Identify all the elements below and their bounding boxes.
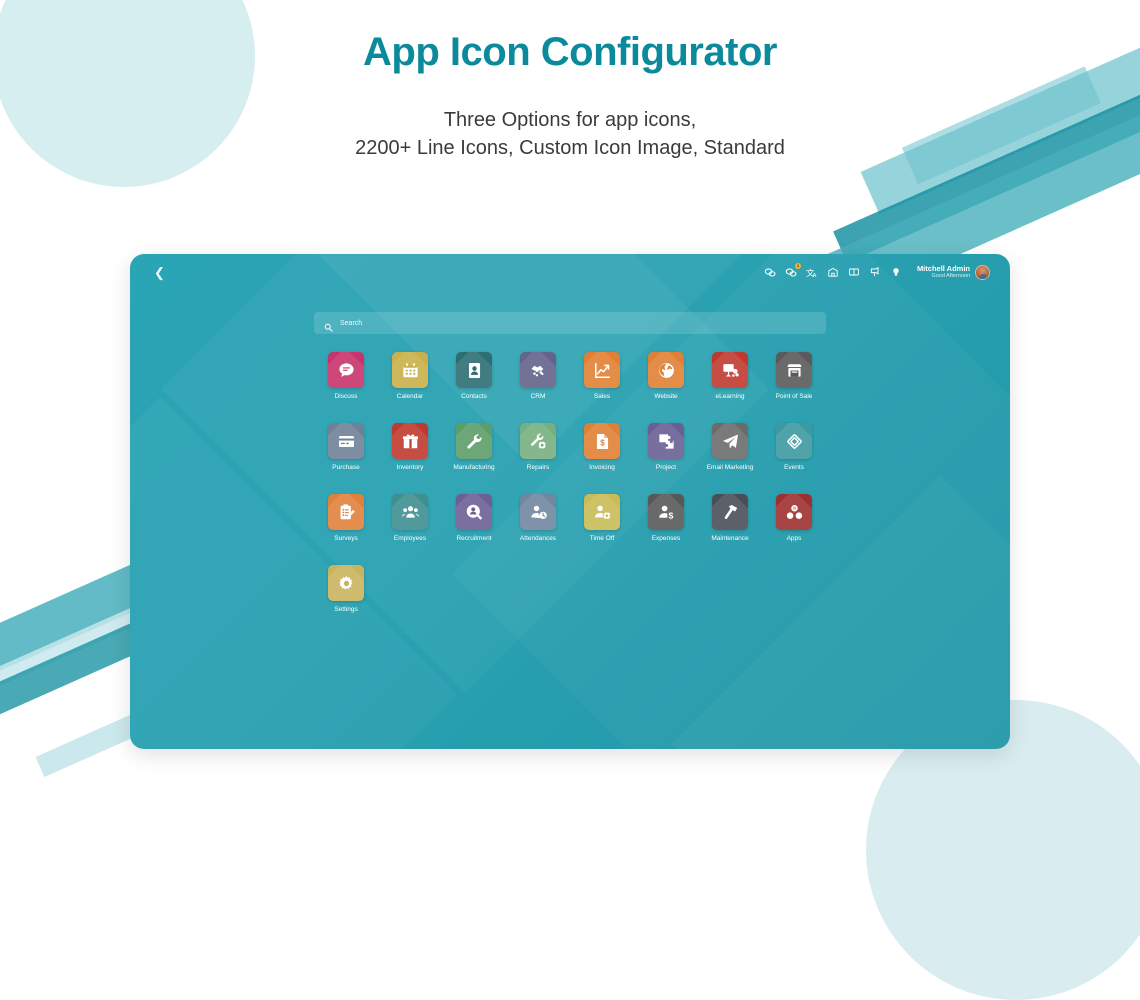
app-label: Surveys bbox=[334, 535, 357, 543]
chevron-left-icon[interactable]: ❮ bbox=[154, 266, 165, 279]
app-item-project[interactable]: Project bbox=[634, 423, 698, 472]
credit-card-icon[interactable] bbox=[328, 423, 364, 459]
app-item-contacts[interactable]: Contacts bbox=[442, 352, 506, 401]
app-label: Contacts bbox=[461, 393, 487, 401]
messages-icon[interactable] bbox=[764, 266, 777, 279]
app-label: Settings bbox=[334, 606, 358, 614]
app-window: ❮ 1文AMitchell AdminGood Afternoon Search… bbox=[130, 254, 1010, 749]
app-label: Attendances bbox=[520, 535, 556, 543]
page-subtitle: Three Options for app icons, 2200+ Line … bbox=[0, 106, 1140, 162]
gear-icon[interactable] bbox=[328, 565, 364, 601]
megaphone-icon[interactable] bbox=[869, 266, 882, 279]
app-item-crm[interactable]: CRM bbox=[506, 352, 570, 401]
activities-icon[interactable]: 1 bbox=[785, 266, 798, 279]
globe-icon[interactable] bbox=[648, 352, 684, 388]
paper-plane-icon[interactable] bbox=[712, 423, 748, 459]
app-item-manufacturing[interactable]: Manufacturing bbox=[442, 423, 506, 472]
window-header: ❮ 1文AMitchell AdminGood Afternoon bbox=[130, 254, 1010, 290]
app-label: Expenses bbox=[652, 535, 681, 543]
company-icon[interactable] bbox=[827, 266, 840, 279]
app-item-inventory[interactable]: Inventory bbox=[378, 423, 442, 472]
translate-icon[interactable]: 文A bbox=[806, 266, 819, 279]
app-label: Project bbox=[656, 464, 676, 472]
app-item-surveys[interactable]: Surveys bbox=[314, 494, 378, 543]
box-icon[interactable] bbox=[392, 423, 428, 459]
app-label: Discuss bbox=[335, 393, 358, 401]
app-label: eLearning bbox=[716, 393, 745, 401]
search-section: Search bbox=[130, 290, 1010, 334]
svg-text:A: A bbox=[812, 273, 816, 279]
app-item-expenses[interactable]: $Expenses bbox=[634, 494, 698, 543]
handshake-icon[interactable] bbox=[520, 352, 556, 388]
header-icon-strip: 1文AMitchell AdminGood Afternoon bbox=[764, 264, 990, 280]
app-label: Invoicing bbox=[589, 464, 615, 472]
app-label: Employees bbox=[394, 535, 426, 543]
magnifier-user-icon[interactable] bbox=[456, 494, 492, 530]
app-label: Purchase bbox=[332, 464, 359, 472]
app-label: Time Off bbox=[590, 535, 615, 543]
app-label: Sales bbox=[594, 393, 610, 401]
svg-text:$: $ bbox=[600, 438, 605, 447]
app-item-email-marketing[interactable]: Email Marketing bbox=[698, 423, 762, 472]
app-label: Email Marketing bbox=[707, 464, 754, 472]
search-placeholder: Search bbox=[340, 320, 362, 327]
app-item-repairs[interactable]: Repairs bbox=[506, 423, 570, 472]
page-subtitle-line2: 2200+ Line Icons, Custom Icon Image, Sta… bbox=[0, 134, 1140, 162]
app-item-apps[interactable]: Apps bbox=[762, 494, 826, 543]
wrench-gear-icon[interactable] bbox=[520, 423, 556, 459]
shop-icon[interactable] bbox=[776, 352, 812, 388]
app-label: Calendar bbox=[397, 393, 423, 401]
app-label: Apps bbox=[787, 535, 802, 543]
speech-bubble-icon[interactable] bbox=[328, 352, 364, 388]
app-label: Recruitment bbox=[456, 535, 491, 543]
app-label: Website bbox=[654, 393, 677, 401]
hammer-icon[interactable] bbox=[712, 494, 748, 530]
app-label: Point of Sale bbox=[776, 393, 813, 401]
invoice-icon[interactable]: $ bbox=[584, 423, 620, 459]
app-item-recruitment[interactable]: Recruitment bbox=[442, 494, 506, 543]
app-item-sales[interactable]: Sales bbox=[570, 352, 634, 401]
cubes-icon[interactable] bbox=[776, 494, 812, 530]
app-label: Events bbox=[784, 464, 804, 472]
page-subtitle-line1: Three Options for app icons, bbox=[0, 106, 1140, 134]
search-input[interactable]: Search bbox=[314, 312, 826, 334]
app-item-website[interactable]: Website bbox=[634, 352, 698, 401]
app-item-attendances[interactable]: Attendances bbox=[506, 494, 570, 543]
clipboard-icon[interactable] bbox=[328, 494, 364, 530]
app-label: Repairs bbox=[527, 464, 549, 472]
ticket-icon[interactable] bbox=[776, 423, 812, 459]
app-item-maintenance[interactable]: Maintenance bbox=[698, 494, 762, 543]
app-item-elearning[interactable]: eLearning bbox=[698, 352, 762, 401]
puzzle-icon[interactable] bbox=[648, 423, 684, 459]
app-item-time-off[interactable]: Time Off bbox=[570, 494, 634, 543]
user-greeting: Good Afternoon bbox=[917, 273, 970, 280]
user-dollar-icon[interactable]: $ bbox=[648, 494, 684, 530]
app-item-point-of-sale[interactable]: Point of Sale bbox=[762, 352, 826, 401]
app-item-events[interactable]: Events bbox=[762, 423, 826, 472]
svg-text:$: $ bbox=[668, 510, 673, 520]
app-label: Maintenance bbox=[711, 535, 748, 543]
chart-up-icon[interactable] bbox=[584, 352, 620, 388]
app-item-purchase[interactable]: Purchase bbox=[314, 423, 378, 472]
wrench-icon[interactable] bbox=[456, 423, 492, 459]
notification-badge: 1 bbox=[795, 263, 801, 269]
presentation-icon[interactable] bbox=[712, 352, 748, 388]
avatar[interactable] bbox=[975, 265, 990, 280]
people-icon[interactable] bbox=[392, 494, 428, 530]
app-label: Inventory bbox=[397, 464, 424, 472]
user-clock-icon[interactable] bbox=[520, 494, 556, 530]
app-item-invoicing[interactable]: $Invoicing bbox=[570, 423, 634, 472]
contact-card-icon[interactable] bbox=[456, 352, 492, 388]
calendar-icon[interactable] bbox=[392, 352, 428, 388]
app-item-employees[interactable]: Employees bbox=[378, 494, 442, 543]
app-item-settings[interactable]: Settings bbox=[314, 565, 378, 614]
app-grid: DiscussCalendarContactsCRMSalesWebsiteeL… bbox=[314, 352, 826, 614]
app-item-calendar[interactable]: Calendar bbox=[378, 352, 442, 401]
user-menu[interactable]: Mitchell AdminGood Afternoon bbox=[917, 264, 990, 280]
page-title: App Icon Configurator bbox=[0, 30, 1140, 75]
apps-grid-icon[interactable] bbox=[848, 266, 861, 279]
user-gear-icon[interactable] bbox=[584, 494, 620, 530]
lightbulb-icon[interactable] bbox=[890, 266, 903, 279]
user-name: Mitchell Admin bbox=[917, 264, 970, 273]
user-text: Mitchell AdminGood Afternoon bbox=[917, 264, 970, 280]
search-icon bbox=[324, 319, 333, 328]
app-item-discuss[interactable]: Discuss bbox=[314, 352, 378, 401]
app-label: Manufacturing bbox=[453, 464, 494, 472]
app-label: CRM bbox=[531, 393, 546, 401]
